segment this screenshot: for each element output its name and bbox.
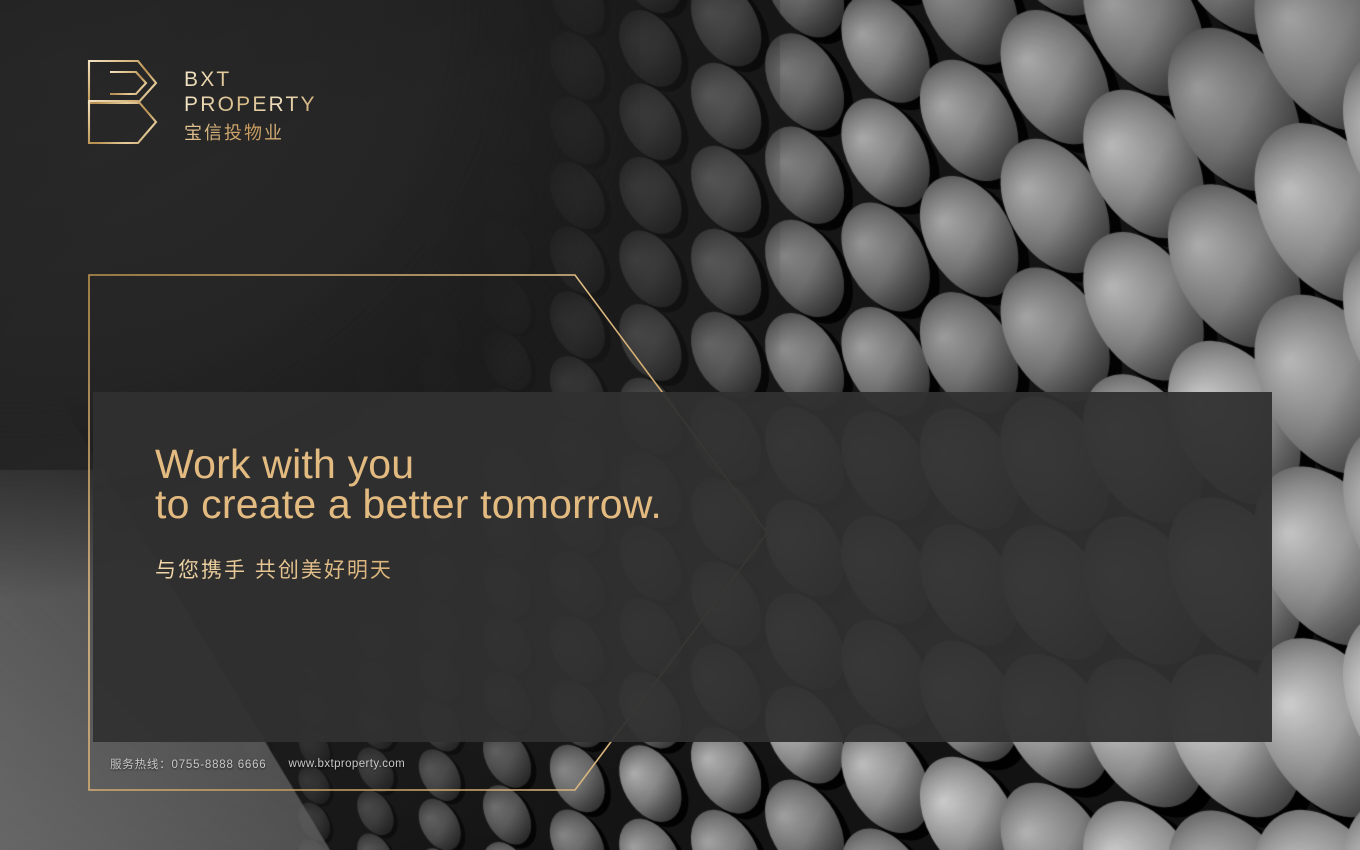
brand-wordmark: BXT PROPERTY 宝信投物业 [184,58,317,144]
footer-contact: 服务热线：0755-8888 6666 www.bxtproperty.com [110,756,405,772]
poster-canvas: BXT PROPERTY 宝信投物业 Work with you to crea… [0,0,1360,850]
brand-name-line2: PROPERTY [184,92,317,117]
brand-name-chinese: 宝信投物业 [184,122,317,144]
hero-headline: Work with you to create a better tomorro… [155,444,775,524]
hero-subheadline: 与您携手 共创美好明天 [155,554,775,584]
bxt-b-monogram-icon [86,58,164,146]
brand-logo[interactable]: BXT PROPERTY 宝信投物业 [86,58,317,146]
hero-copy: Work with you to create a better tomorro… [155,444,775,584]
brand-name-line1: BXT [184,67,317,92]
footer-hotline: 服务热线：0755-8888 6666 [110,756,266,772]
hero-headline-line2: to create a better tomorrow. [155,484,775,524]
footer-website[interactable]: www.bxtproperty.com [288,758,405,770]
